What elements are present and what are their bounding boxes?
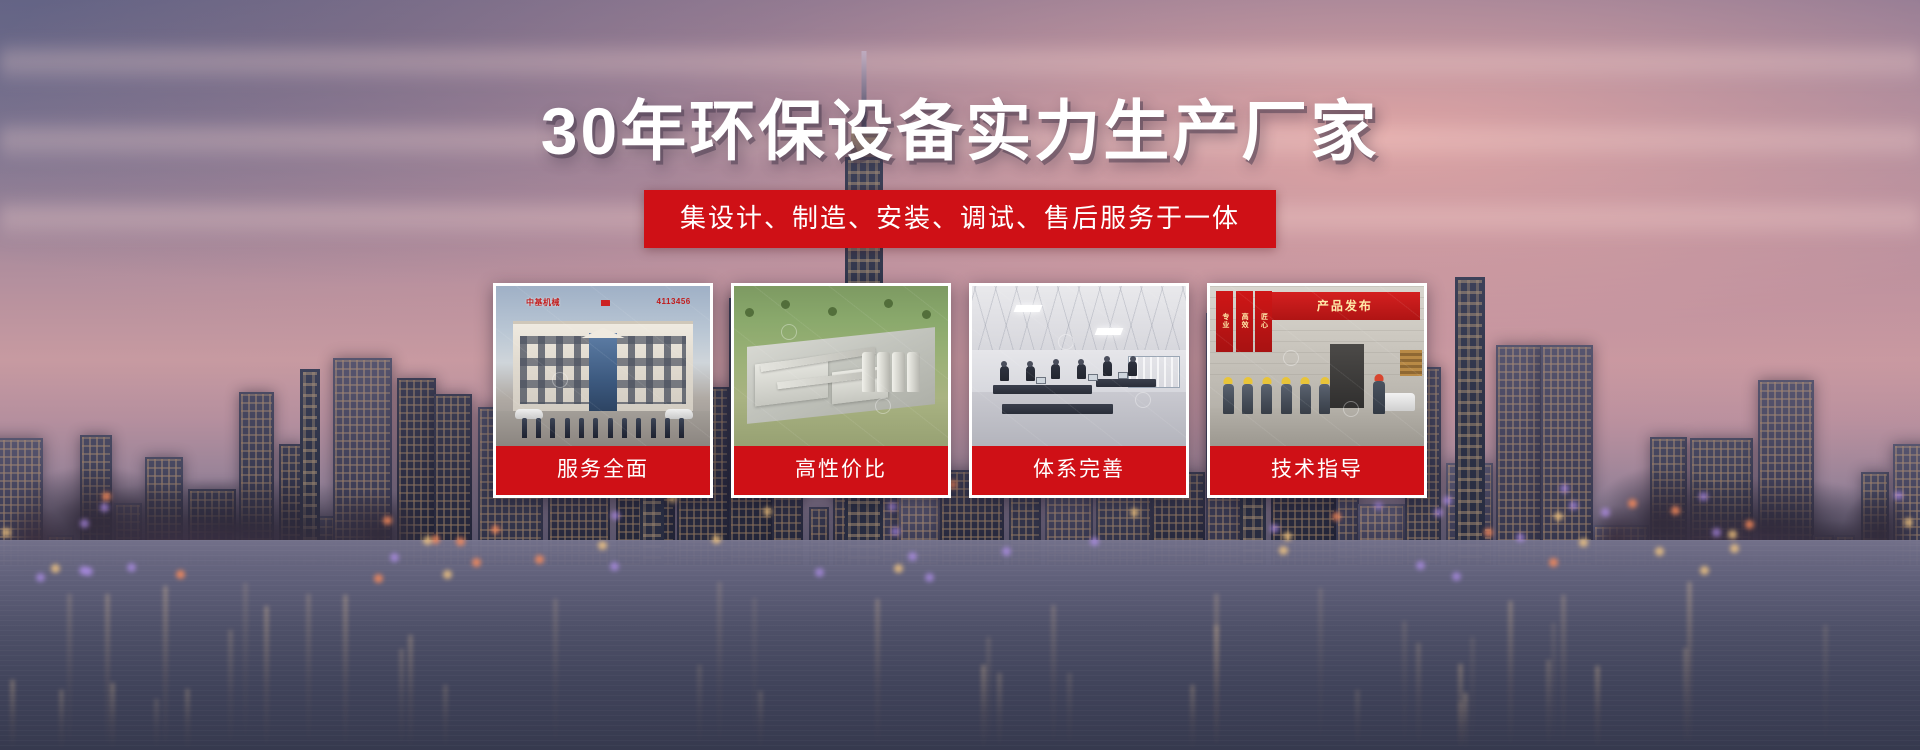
feature-card[interactable]: 高性价比 xyxy=(731,283,951,498)
water-reflection xyxy=(1471,637,1474,750)
city-light-glow xyxy=(80,519,89,528)
city-light-glow xyxy=(1452,572,1461,581)
water-reflection xyxy=(1356,690,1359,750)
workshop-banner: 产品发布 xyxy=(1270,292,1420,319)
water-reflection xyxy=(409,635,412,750)
city-light-glow xyxy=(36,573,45,582)
city-light-glow xyxy=(1728,530,1737,539)
water-reflection xyxy=(759,691,762,750)
city-light-glow xyxy=(598,541,607,550)
city-light-glow xyxy=(1745,520,1754,529)
water-reflection xyxy=(698,665,701,750)
city-light-glow xyxy=(1700,566,1709,575)
watermark-dot-icon xyxy=(1135,392,1151,408)
city-light-glow xyxy=(763,507,772,516)
river-water xyxy=(0,540,1920,750)
city-light-glow xyxy=(51,564,60,573)
office-staff xyxy=(1026,366,1035,381)
worker-lead xyxy=(1373,381,1385,414)
office-staff xyxy=(1077,364,1086,379)
city-light-glow xyxy=(1601,508,1610,517)
city-light-glow xyxy=(1484,528,1493,537)
building-phone-text: 4113456 xyxy=(657,297,691,306)
watermark-dot-icon xyxy=(1058,334,1074,350)
city-light-glow xyxy=(908,552,917,561)
office-interior-photo xyxy=(972,286,1186,446)
office-staff xyxy=(1103,361,1112,376)
hardhat-icon xyxy=(1243,377,1252,384)
city-light-glow xyxy=(1671,506,1680,515)
city-light-glow xyxy=(1516,533,1525,542)
ceiling-light xyxy=(1095,328,1124,335)
watermark-dot-icon xyxy=(1283,350,1299,366)
city-light-glow xyxy=(815,568,824,577)
page-title: 30年环保设备实力生产厂家 xyxy=(0,96,1920,167)
water-reflection xyxy=(1459,702,1462,750)
water-reflection xyxy=(876,599,879,750)
water-reflection xyxy=(987,637,990,750)
water-reflection xyxy=(68,594,71,750)
city-light-glow xyxy=(1332,512,1341,521)
hardhat-icon xyxy=(1282,377,1291,384)
workshop-workers-photo: 产品发布 专业 高效 匠心 xyxy=(1210,286,1424,446)
subtitle-container: 集设计、制造、安装、调试、售后服务于一体 xyxy=(0,190,1920,248)
hero-banner: 30年环保设备实力生产厂家 集设计、制造、安装、调试、售后服务于一体 中基机械 … xyxy=(0,0,1920,750)
water-reflection xyxy=(718,582,721,750)
office-staff xyxy=(1128,361,1137,376)
city-light-glow xyxy=(925,573,934,582)
city-light-glow xyxy=(1655,547,1664,556)
city-light-glow xyxy=(1434,508,1443,517)
water-reflection xyxy=(1688,582,1691,750)
city-light-glow xyxy=(1416,561,1425,570)
water-reflection xyxy=(400,649,403,750)
water-reflection xyxy=(444,685,447,750)
city-light-glow xyxy=(423,536,432,545)
city-light-glow xyxy=(894,564,903,573)
water-reflection xyxy=(155,699,158,750)
water-reflection xyxy=(1215,594,1218,750)
city-light-glow xyxy=(1579,538,1588,547)
office-staff xyxy=(1051,364,1060,379)
storage-silo xyxy=(907,352,920,392)
water-reflection xyxy=(554,599,557,750)
city-light-glow xyxy=(1628,499,1637,508)
water-reflection xyxy=(1509,601,1512,750)
water-reflection xyxy=(1684,648,1687,750)
city-light-glow xyxy=(2,528,11,537)
city-light-glow xyxy=(1270,524,1279,533)
water-reflection xyxy=(244,583,247,750)
parked-van xyxy=(1381,393,1415,411)
aerial-plant-photo xyxy=(734,286,948,446)
company-building-photo: 中基机械 4113456 xyxy=(496,286,710,446)
vertical-banner: 匠心 xyxy=(1255,291,1272,352)
water-reflection xyxy=(164,586,167,750)
city-light-glow xyxy=(891,527,900,536)
watermark-dot-icon xyxy=(552,372,568,388)
card-caption: 服务全面 xyxy=(496,446,710,495)
storage-silo xyxy=(877,352,890,392)
tree-icon xyxy=(884,299,893,308)
vertical-banner: 高效 xyxy=(1236,291,1253,352)
cloud-band xyxy=(0,40,1920,86)
worker xyxy=(1300,384,1311,414)
watermark-dot-icon xyxy=(1343,401,1359,417)
city-light-glow xyxy=(1090,537,1099,546)
feature-card[interactable]: 体系完善 xyxy=(969,283,1189,498)
water-reflection xyxy=(1459,664,1462,750)
city-light-glow xyxy=(1549,558,1558,567)
water-reflection xyxy=(998,673,1001,750)
worker xyxy=(1281,384,1292,414)
city-light-glow xyxy=(1283,532,1292,541)
city-light-glow xyxy=(431,535,440,544)
office-desk xyxy=(1096,379,1156,387)
water-reflection xyxy=(753,598,756,750)
tree-icon xyxy=(828,307,837,316)
hardhat-icon xyxy=(1301,377,1310,384)
water-reflection xyxy=(307,594,310,750)
storage-silo xyxy=(892,352,905,392)
city-light-glow xyxy=(1904,518,1913,527)
city-light-glow xyxy=(390,553,399,562)
city-light-glow xyxy=(1002,547,1011,556)
water-reflection xyxy=(265,606,268,750)
hardhat-icon xyxy=(1320,377,1329,384)
hardhat-icon xyxy=(1374,374,1383,381)
city-light-glow xyxy=(100,503,109,512)
city-light-glow xyxy=(456,537,465,546)
monitor-icon xyxy=(1088,374,1098,381)
city-light-glow xyxy=(1569,501,1578,510)
office-desk xyxy=(1002,404,1113,414)
monitor-icon xyxy=(1036,377,1046,384)
office-staff xyxy=(1000,366,1009,381)
hardhat-icon xyxy=(1224,377,1233,384)
water-reflection xyxy=(1547,660,1550,750)
water-reflection xyxy=(344,595,347,750)
worker xyxy=(1223,384,1234,414)
city-light-glow xyxy=(472,558,481,567)
city-light-glow xyxy=(610,562,619,571)
city-light-glow xyxy=(1374,501,1383,510)
city-light-glow xyxy=(888,502,897,511)
storage-silo xyxy=(862,352,875,392)
water-reflection xyxy=(1403,621,1406,750)
city-light-glow xyxy=(712,535,721,544)
city-light-glow xyxy=(1712,528,1721,537)
water-reflection xyxy=(60,690,63,750)
city-light-glow xyxy=(1730,544,1739,553)
water-reflection xyxy=(1596,666,1599,750)
water-reflection xyxy=(1824,625,1827,750)
staff-lineup xyxy=(522,418,685,438)
water-reflection xyxy=(1417,643,1420,750)
city-light-glow xyxy=(383,516,392,525)
city-light-glow xyxy=(611,511,620,520)
tree-icon xyxy=(922,310,931,319)
subtitle-badge: 集设计、制造、安装、调试、售后服务于一体 xyxy=(644,190,1276,248)
city-light-glow xyxy=(127,563,136,572)
feature-card-row: 中基机械 4113456 服务全面 xyxy=(0,283,1920,498)
office-desk xyxy=(993,385,1091,394)
building-sign-text: 中基机械 xyxy=(526,297,560,308)
city-light-glow xyxy=(374,574,383,583)
office-ceiling xyxy=(972,286,1186,353)
water-reflection xyxy=(1552,623,1555,750)
water-reflection xyxy=(1068,673,1071,750)
city-light-glow xyxy=(1279,546,1288,555)
worker xyxy=(1261,384,1272,414)
city-light-glow xyxy=(1130,508,1139,517)
monitor-icon xyxy=(1118,372,1128,379)
tree-icon xyxy=(745,308,754,317)
watermark-dot-icon xyxy=(781,324,797,340)
water-reflection xyxy=(982,665,985,750)
water-reflection xyxy=(1052,605,1055,750)
card-caption: 技术指导 xyxy=(1210,446,1424,495)
water-reflection xyxy=(1464,693,1467,750)
ceiling-light xyxy=(1013,305,1042,312)
city-light-glow xyxy=(443,570,452,579)
worker xyxy=(1319,384,1330,414)
office-floor xyxy=(972,392,1186,446)
card-caption: 体系完善 xyxy=(972,446,1186,495)
feature-card[interactable]: 中基机械 4113456 服务全面 xyxy=(493,283,713,498)
vertical-banner: 专业 xyxy=(1216,291,1233,352)
water-reflection xyxy=(1191,685,1194,750)
water-reflection xyxy=(11,680,14,750)
water-reflection xyxy=(1215,625,1218,750)
hardhat-icon xyxy=(1262,377,1271,384)
city-light-glow xyxy=(176,570,185,579)
watermark-dot-icon xyxy=(875,398,891,414)
building-atrium xyxy=(589,333,618,411)
city-light-glow xyxy=(1554,512,1563,521)
water-reflection xyxy=(111,683,114,750)
water-reflection xyxy=(186,689,189,750)
worker xyxy=(1242,384,1253,414)
city-light-glow xyxy=(535,555,544,564)
water-reflection xyxy=(1319,588,1322,750)
material-stack xyxy=(1400,350,1422,376)
water-reflection xyxy=(106,594,109,750)
building-facade xyxy=(513,321,693,411)
water-reflection xyxy=(1562,595,1565,750)
tree-icon xyxy=(781,300,790,309)
card-caption: 高性价比 xyxy=(734,446,948,495)
water-reflection xyxy=(229,630,232,750)
flag-icon xyxy=(601,300,610,306)
city-light-glow xyxy=(79,566,88,575)
feature-card[interactable]: 产品发布 专业 高效 匠心 技术指导 xyxy=(1207,283,1427,498)
city-light-glow xyxy=(491,525,500,534)
